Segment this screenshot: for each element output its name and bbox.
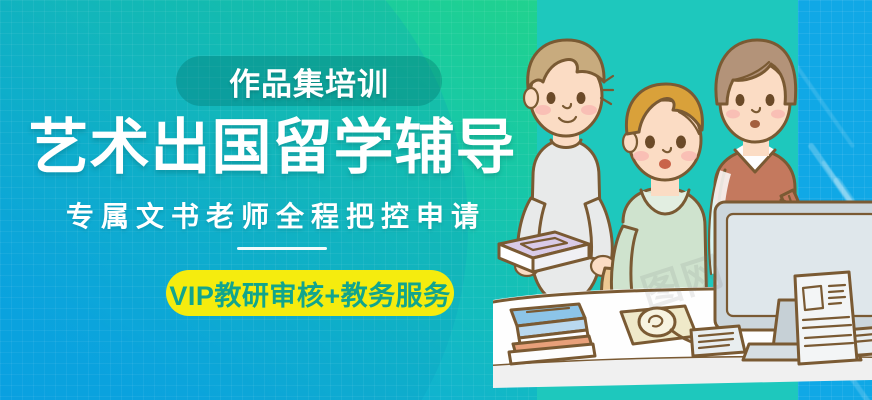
computer-tower xyxy=(795,272,857,364)
promo-banner: .ol { fill:none; stroke:#7a5a33; stroke-… xyxy=(0,0,872,400)
eyebrow-text: 作品集培训 xyxy=(229,59,389,104)
cta-label: VIP教研审核+教务服务 xyxy=(169,274,450,313)
page-title: 艺术出国留学辅导 xyxy=(0,112,545,184)
subtitle: 专属文书老师全程把控申请 xyxy=(0,198,545,236)
divider xyxy=(237,247,327,250)
students-illustration: .ol { fill:none; stroke:#7a5a33; stroke-… xyxy=(493,0,872,400)
eyebrow-badge: 作品集培训 xyxy=(176,56,442,106)
cta-badge[interactable]: VIP教研审核+教务服务 xyxy=(166,270,454,316)
copy-block: 作品集培训 艺术出国留学辅导 专属文书老师全程把控申请 VIP教研审核+教务服务 xyxy=(0,0,545,400)
